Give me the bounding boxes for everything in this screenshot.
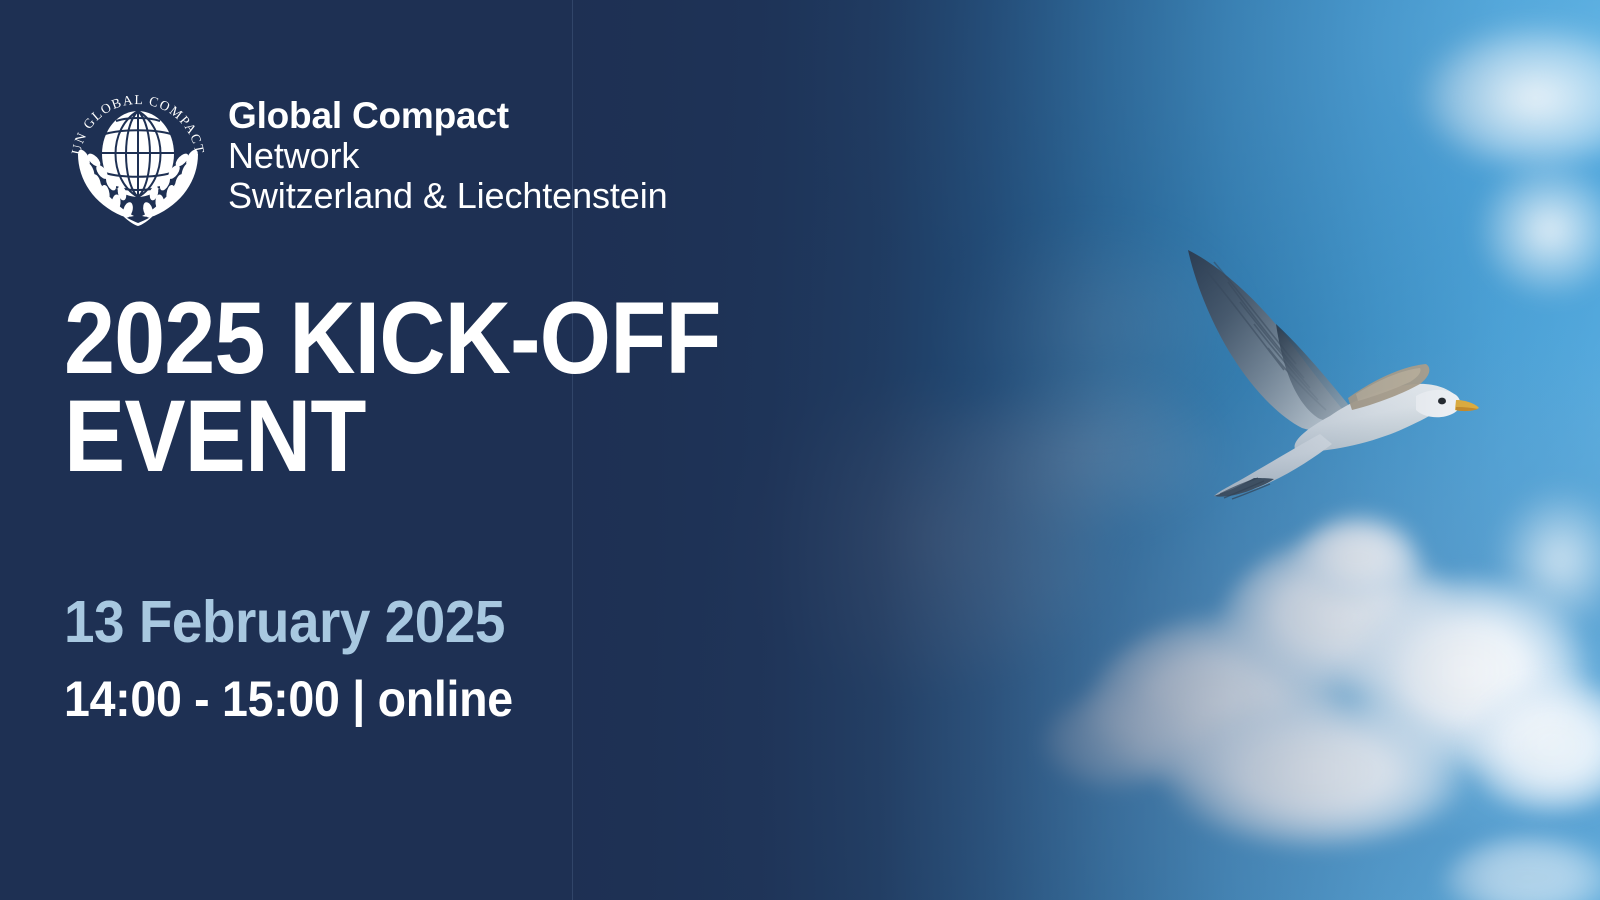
- organisation-logo: UN GLOBAL COMPACT: [64, 76, 668, 226]
- logo-line-network: Network: [228, 136, 668, 176]
- organisation-name: Global Compact Network Switzerland & Lie…: [228, 76, 668, 215]
- event-banner: UN GLOBAL COMPACT: [0, 0, 1600, 900]
- un-global-compact-emblem-icon: UN GLOBAL COMPACT: [64, 76, 212, 226]
- logo-line-region: Switzerland & Liechtenstein: [228, 176, 668, 216]
- banner-content: UN GLOBAL COMPACT: [0, 0, 1600, 900]
- logo-line-global-compact: Global Compact: [228, 96, 668, 135]
- page-title: 2025 KICK-OFF EVENT: [64, 290, 721, 486]
- event-time-location: 14:00 - 15:00 | online: [64, 670, 513, 728]
- event-date: 13 February 2025: [64, 588, 505, 656]
